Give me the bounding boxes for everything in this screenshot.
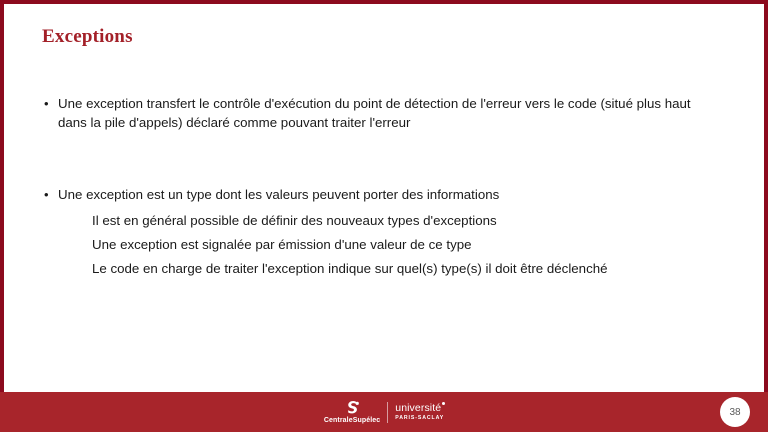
sub-item-list: Il est en général possible de définir de… — [0, 209, 768, 281]
paris-saclay-subtitle: PARIS-SACLAY — [395, 415, 444, 422]
bullet-text: Une exception est un type dont les valeu… — [58, 185, 710, 204]
content-spacer — [0, 132, 768, 185]
centralesupelec-wordmark: CentraleSupélec — [324, 416, 380, 425]
centralesupelec-logo: CentraleSupélec — [324, 400, 387, 425]
universite-wordmark: université — [395, 403, 441, 414]
sub-item: Il est en général possible de définir de… — [0, 209, 768, 233]
bullet-item: • Une exception transfert le contrôle d'… — [0, 94, 768, 132]
bullet-text: Une exception transfert le contrôle d'ex… — [58, 94, 710, 132]
universite-paris-saclay-logo: université PARIS-SACLAY — [388, 403, 444, 422]
page-number-badge: 38 — [720, 397, 750, 427]
centralesupelec-mark-icon — [341, 400, 363, 415]
universite-dot-icon — [442, 402, 445, 405]
slide-title: Exceptions — [42, 26, 133, 48]
frame-border-top — [0, 0, 768, 4]
universite-text: université — [395, 402, 441, 414]
bullet-marker-icon: • — [44, 185, 49, 204]
slide-canvas: Exceptions • Une exception transfert le … — [0, 0, 768, 432]
sub-item: Le code en charge de traiter l'exception… — [0, 257, 768, 281]
bullet-item: • Une exception est un type dont les val… — [0, 185, 768, 204]
footer-logo-group: CentraleSupélec université PARIS-SACLAY — [0, 392, 768, 432]
slide-body: • Une exception transfert le contrôle d'… — [0, 94, 768, 281]
sub-item: Une exception est signalée par émission … — [0, 233, 768, 257]
bullet-marker-icon: • — [44, 94, 49, 113]
institution-logos: CentraleSupélec université PARIS-SACLAY — [324, 397, 444, 427]
